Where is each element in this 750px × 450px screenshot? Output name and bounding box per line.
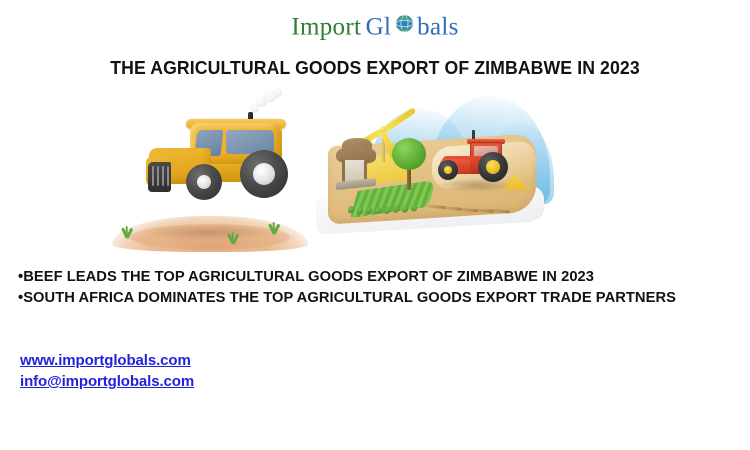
tractor-shadow bbox=[144, 224, 274, 240]
windmill-hub bbox=[380, 126, 386, 132]
bullet-text: BEEF LEADS THE TOP AGRICULTURAL GOODS EX… bbox=[23, 268, 594, 285]
red-tractor bbox=[434, 134, 522, 196]
email-link[interactable]: info@importglobals.com bbox=[20, 371, 194, 392]
logo-text-import: Import bbox=[291, 13, 361, 40]
bullet-list: •BEEF LEADS THE TOP AGRICULTURAL GOODS E… bbox=[18, 266, 732, 308]
red-tractor-rear-wheel bbox=[478, 152, 508, 182]
grass-tuft-icon bbox=[267, 221, 280, 234]
grass-tuft-icon bbox=[120, 225, 133, 238]
tractor-grille bbox=[148, 162, 171, 192]
page-title: THE AGRICULTURAL GOODS EXPORT OF ZIMBABW… bbox=[17, 57, 733, 79]
logo-text-bals: bals bbox=[417, 13, 458, 40]
farm-diorama-illustration bbox=[312, 88, 552, 256]
logo-text-gl: Gl bbox=[366, 13, 392, 40]
infographic-slide: Import Gl bals THE AGRICULTURAL GOODS EX… bbox=[0, 0, 750, 450]
tractor-rear-wheel bbox=[240, 150, 288, 198]
yellow-tractor-illustration bbox=[104, 90, 316, 256]
illustration-area bbox=[0, 88, 750, 256]
bullet-text: SOUTH AFRICA DOMINATES THE TOP AGRICULTU… bbox=[23, 289, 676, 306]
grass-tuft-icon bbox=[226, 231, 239, 244]
red-tractor-shadow bbox=[438, 178, 514, 192]
tractor-front-wheel bbox=[186, 164, 222, 200]
website-link[interactable]: www.importglobals.com bbox=[20, 350, 194, 371]
brand-logo: Import Gl bals bbox=[0, 14, 750, 39]
tree-crown bbox=[392, 138, 426, 170]
contact-block: www.importglobals.com info@importglobals… bbox=[20, 350, 194, 392]
globe-icon bbox=[395, 14, 414, 33]
list-item: •SOUTH AFRICA DOMINATES THE TOP AGRICULT… bbox=[18, 287, 709, 308]
red-tractor-front-wheel bbox=[438, 160, 458, 180]
list-item: •BEEF LEADS THE TOP AGRICULTURAL GOODS E… bbox=[18, 266, 709, 287]
